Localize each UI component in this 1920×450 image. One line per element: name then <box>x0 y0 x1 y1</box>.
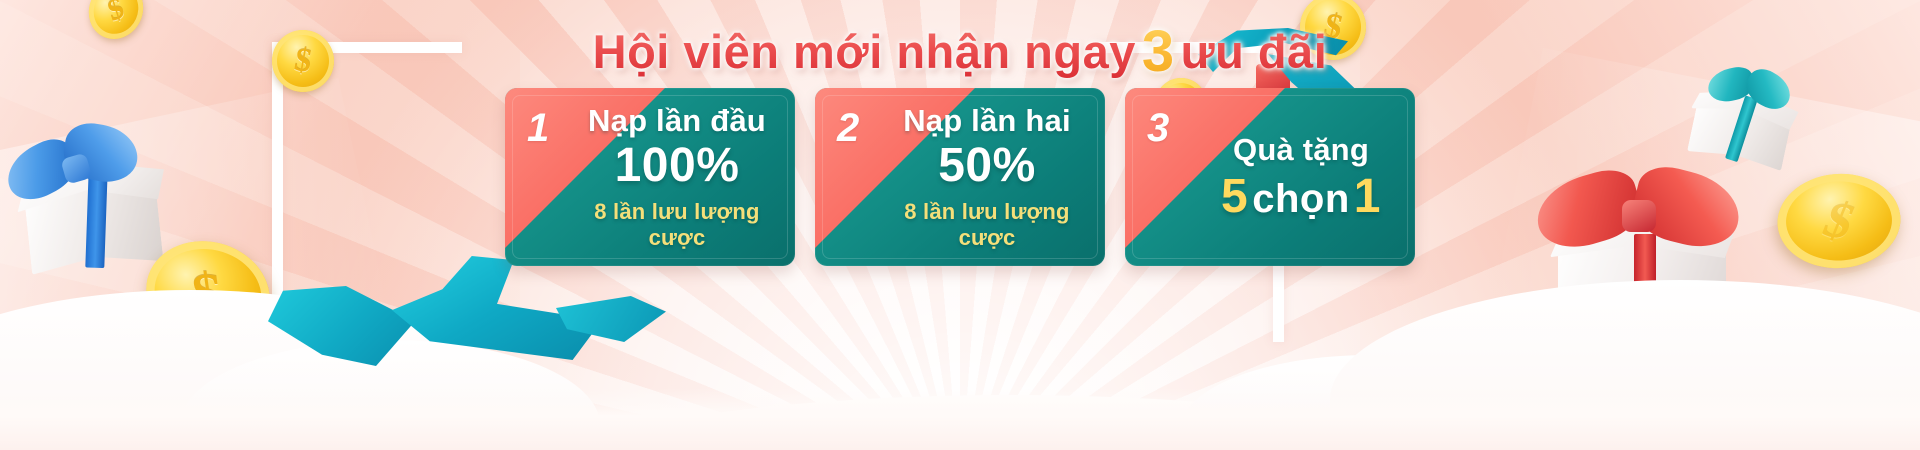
card-2-title: Nạp lần hai <box>903 103 1071 139</box>
page-title: Hội viên mới nhận ngay3ưu đãi <box>592 16 1329 89</box>
promo-banner: $ $ $ $ $ $ <box>0 0 1920 450</box>
cloud-shape <box>180 340 600 450</box>
card-1-note: 8 lần lưu lượng cược <box>571 199 783 251</box>
card-3-value-gold-second: 1 <box>1354 170 1381 223</box>
title-text-part1: Hội viên mới nhận ngay <box>592 23 1137 82</box>
cloud-shape <box>560 395 1460 450</box>
teal-ribbon-bottom-left <box>268 286 418 366</box>
card-2-value: 50% <box>938 141 1036 191</box>
card-2-note: 8 lần lưu lượng cược <box>881 199 1093 251</box>
card-3-title: Quà tặng <box>1233 132 1369 168</box>
offer-card-2[interactable]: 2 Nạp lần hai 50% 8 lần lưu lượng cược <box>815 88 1105 266</box>
card-3-body: Quà tặng 5chọn1 <box>1125 88 1415 266</box>
coin-dollar-symbol: $ <box>188 260 228 327</box>
title-highlight-number: 3 <box>1137 16 1180 89</box>
title-text-part2: ưu đãi <box>1180 23 1329 82</box>
offer-card-3[interactable]: 3 Quà tặng 5chọn1 <box>1125 88 1415 266</box>
card-2-body: Nạp lần hai 50% 8 lần lưu lượng cược <box>815 88 1105 266</box>
cloud-shape <box>1180 355 1560 450</box>
card-1-body: Nạp lần đầu 100% 8 lần lưu lượng cược <box>505 88 795 266</box>
card-3-value: 5chọn1 <box>1221 172 1381 222</box>
cloud-band <box>0 388 1920 450</box>
offer-cards: 1 Nạp lần đầu 100% 8 lần lưu lượng cược … <box>0 88 1920 266</box>
banner-title: Hội viên mới nhận ngay3ưu đãi <box>0 16 1920 89</box>
offer-card-1[interactable]: 1 Nạp lần đầu 100% 8 lần lưu lượng cược <box>505 88 795 266</box>
card-1-title: Nạp lần đầu <box>588 103 766 139</box>
card-3-value-word: chọn <box>1248 177 1354 221</box>
card-3-value-gold-first: 5 <box>1221 170 1248 223</box>
card-1-value: 100% <box>615 141 740 191</box>
